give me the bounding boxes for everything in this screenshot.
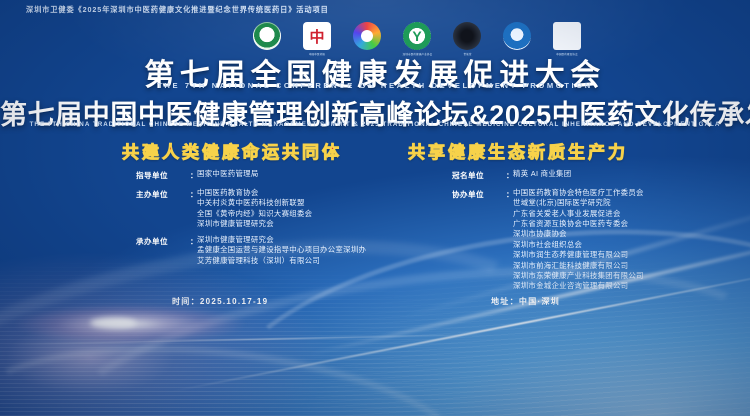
vignette-overlay: [0, 0, 750, 416]
conference-banner: 深圳市卫健委《2025年深圳市中医药健康文化推进暨纪念世界传统医药日》活动项目 …: [0, 0, 750, 416]
